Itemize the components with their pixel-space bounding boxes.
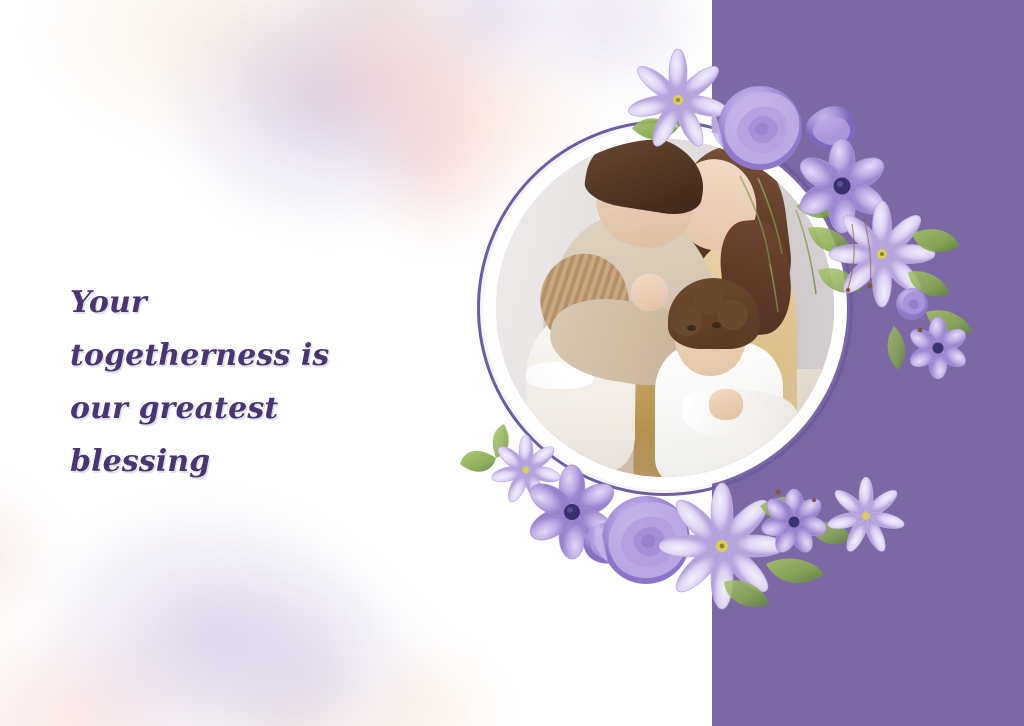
quote-line-3: our greatest [70,382,400,435]
quote-line-2: togetherness is [70,329,400,382]
quote-line-1: Your [70,276,400,329]
greeting-card-canvas: Your togetherness is our greatest blessi… [0,0,1024,726]
watercolor-wash-top-left [0,0,560,290]
watercolor-wash-bottom-left-2 [120,520,540,726]
quote-text: Your togetherness is our greatest blessi… [70,276,400,488]
photo-frame-purple-ring [477,120,853,496]
quote-line-4: blessing [70,435,400,488]
petal-wing-2 [584,522,633,564]
photo-frame [477,120,853,496]
rose-flower-2 [594,496,690,584]
